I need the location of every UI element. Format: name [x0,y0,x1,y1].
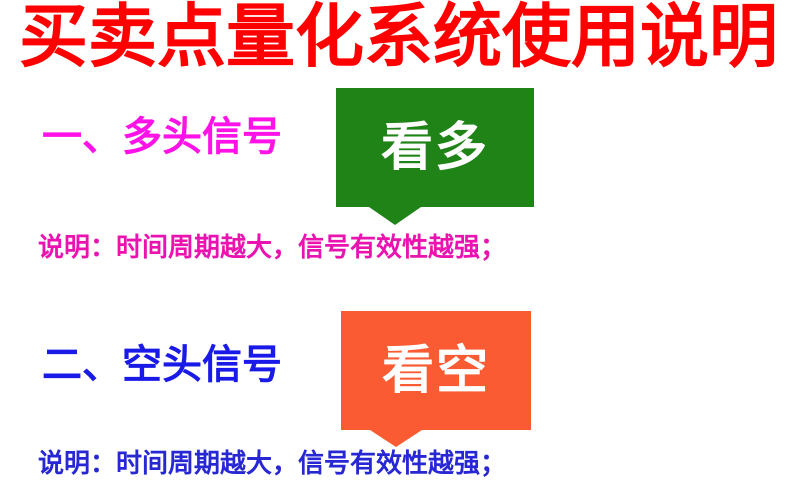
section-heading-bearish: 二、空头信号 [42,341,282,389]
section-heading-bullish: 一、多头信号 [42,113,282,161]
callout-bullish-pointer-icon [369,207,421,225]
section-description-bearish: 说明：时间周期越大，信号有效性越强； [38,447,506,481]
callout-bullish: 看多 [336,88,534,223]
callout-bearish-bubble: 看空 [341,311,531,430]
section-description-bullish: 说明：时间周期越大，信号有效性越强； [38,231,506,265]
callout-bearish: 看空 [341,311,531,446]
callout-bearish-label: 看空 [382,343,490,399]
slide-canvas: 买卖点量化系统使用说明 一、多头信号 看多 说明：时间周期越大，信号有效性越强；… [0,0,797,501]
page-title: 买卖点量化系统使用说明 [8,0,789,76]
callout-bearish-pointer-icon [370,430,422,447]
callout-bullish-label: 看多 [381,120,489,176]
callout-bullish-bubble: 看多 [336,88,534,207]
